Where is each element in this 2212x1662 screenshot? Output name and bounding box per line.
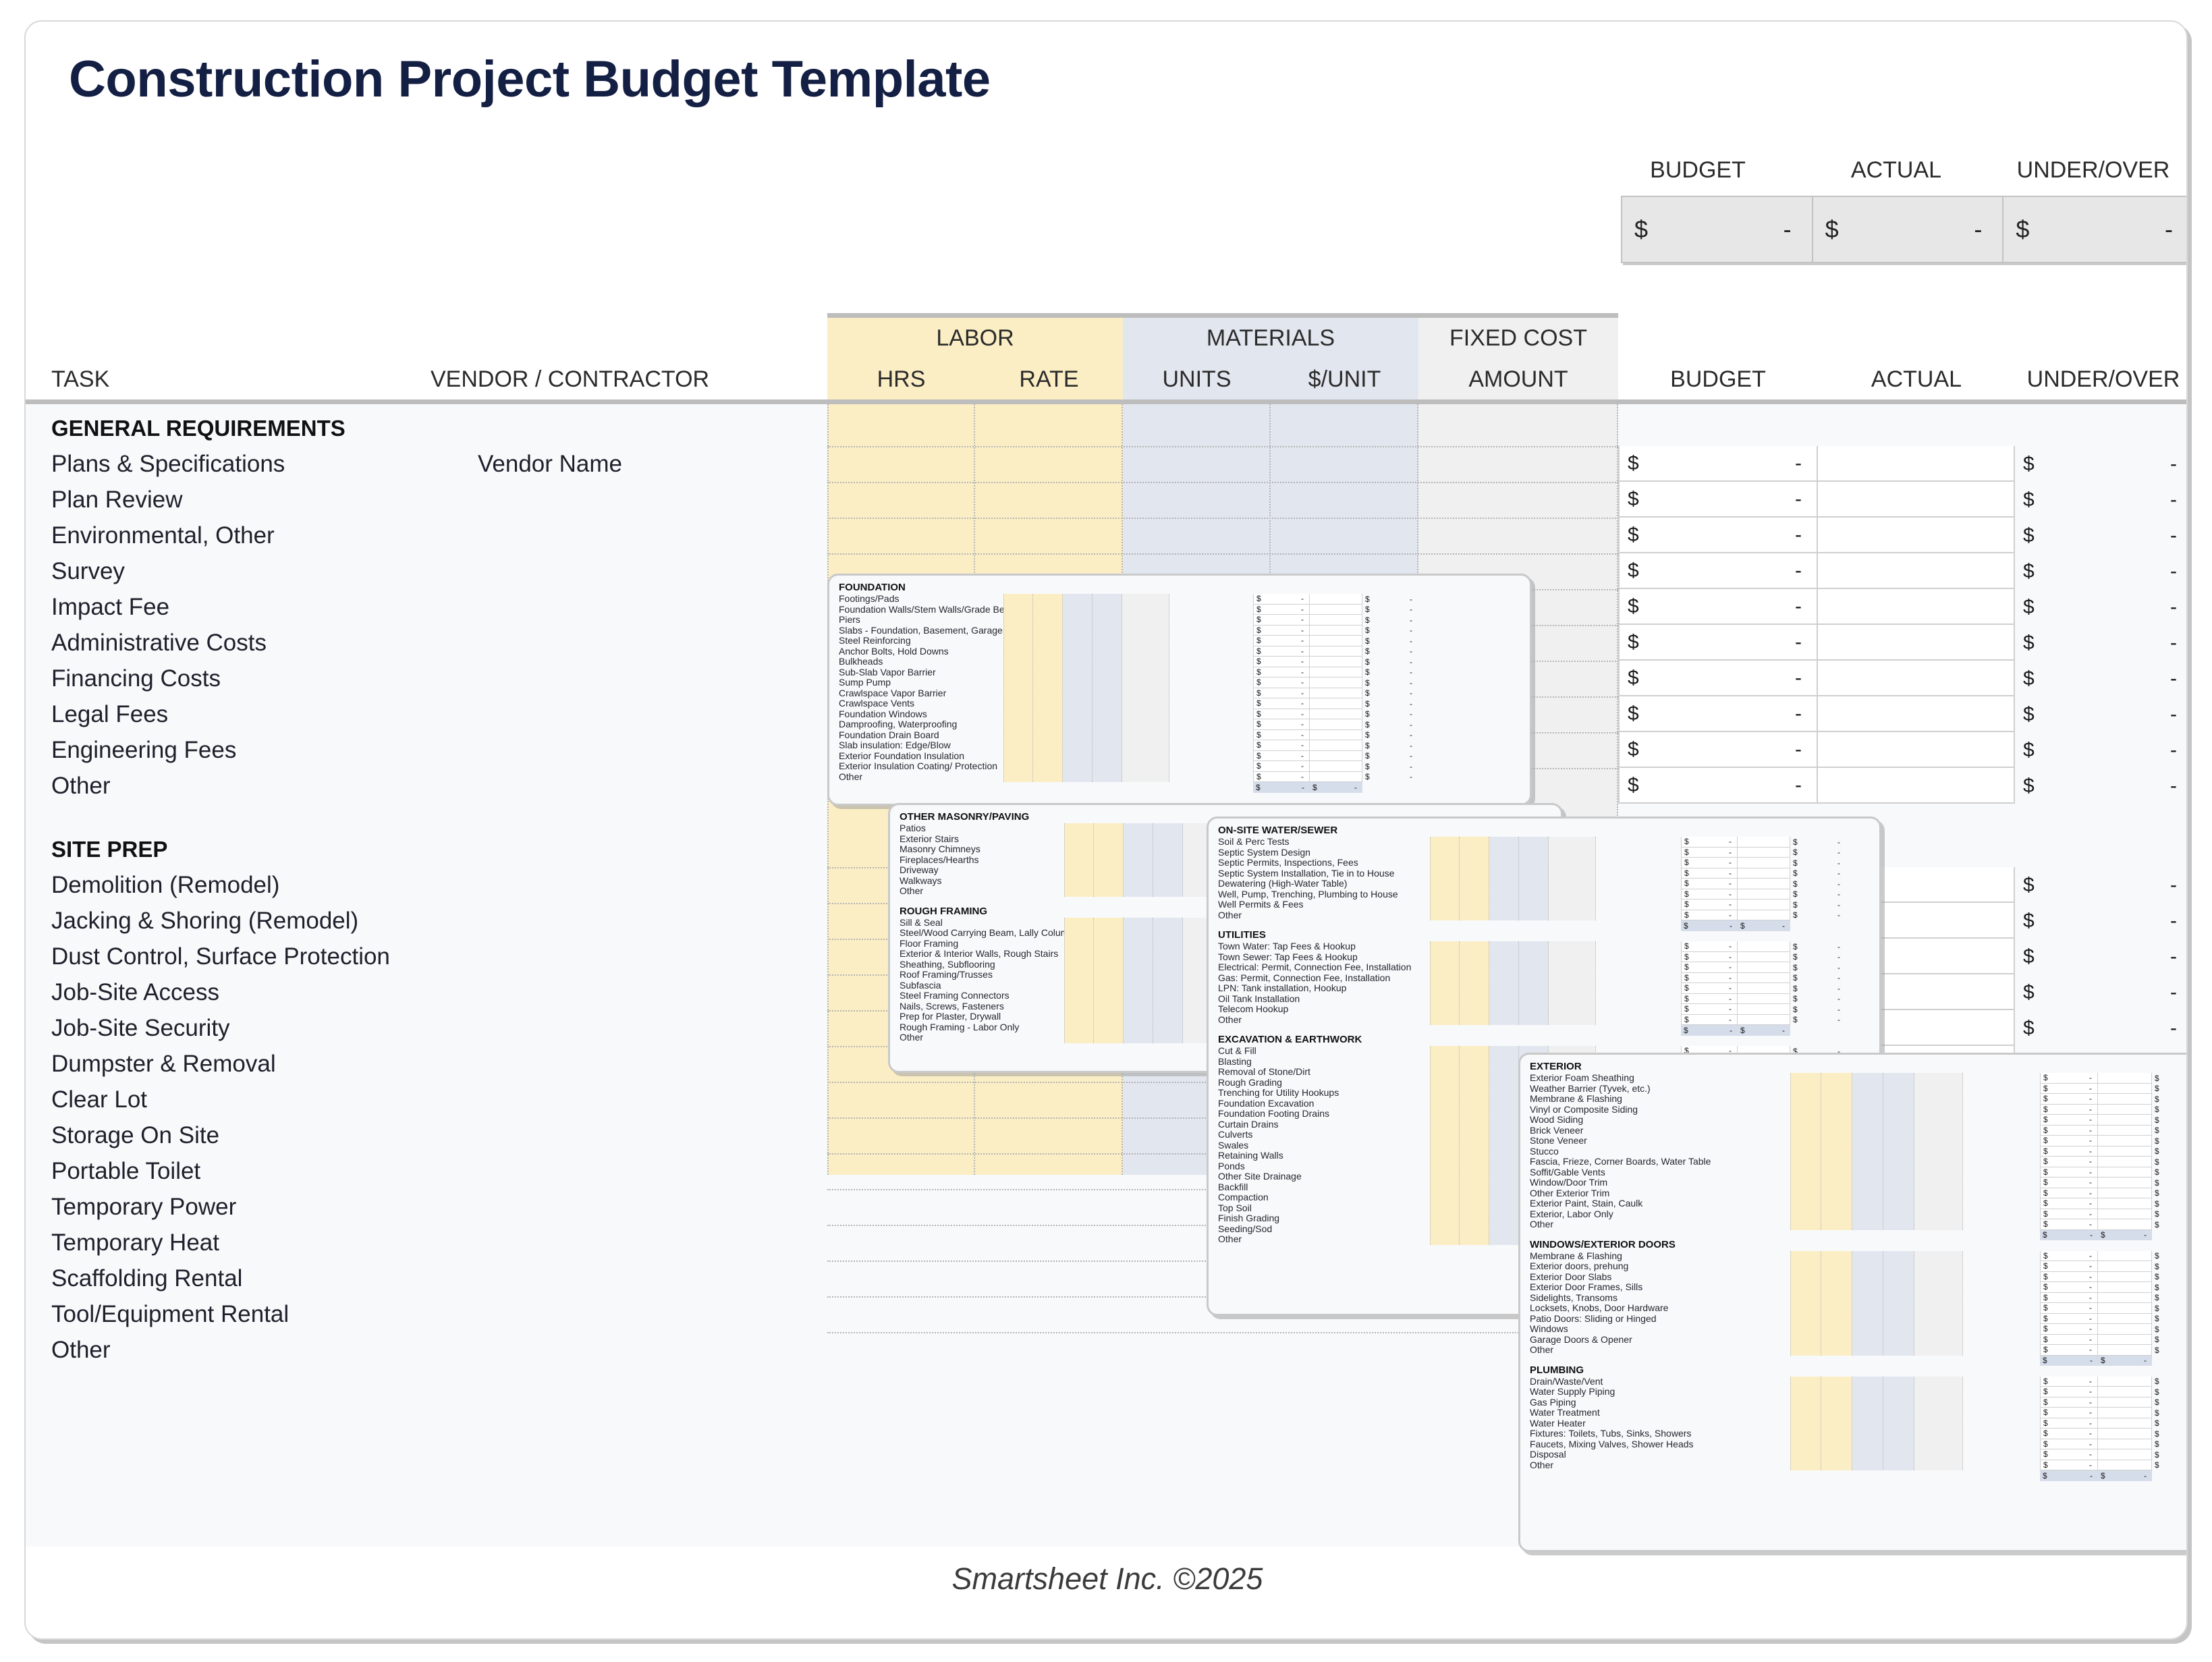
task-row[interactable]: Storage On Site [51, 1117, 807, 1153]
panel-task-label[interactable]: Slabs - Foundation, Basement, Garage [839, 626, 1003, 636]
panel-budget-cell[interactable]: $- [2040, 1198, 2098, 1209]
panel-budget-cell[interactable]: $- [1253, 761, 1310, 772]
panel-budget-cell[interactable]: $- [1681, 962, 1738, 973]
panel-budget-cell[interactable]: $- [1253, 677, 1310, 688]
panel-task-label[interactable]: Steel Reinforcing [839, 636, 911, 646]
panel-task-label[interactable]: Foundation Windows [839, 709, 927, 720]
panel-labor-hrs-column[interactable] [1064, 823, 1094, 897]
panel-task-label[interactable]: Exterior Foam Sheathing [1530, 1073, 1634, 1084]
panel-task-label[interactable]: Water Treatment [1530, 1408, 1600, 1418]
panel-task-label[interactable]: Subfascia [900, 980, 941, 991]
panel-actual-cell[interactable] [1310, 719, 1362, 730]
panel-fixed-amount-column[interactable] [1914, 1251, 1963, 1356]
panel-task-label[interactable]: Soil & Perc Tests [1218, 837, 1290, 848]
summary-budget-cell[interactable]: $ - [1622, 197, 1813, 262]
panel-task-label[interactable]: Piers [839, 615, 860, 626]
panel-task-label[interactable]: Fixtures: Toilets, Tubs, Sinks, Showers [1530, 1429, 1691, 1439]
panel-budget-cell[interactable]: $- [2040, 1429, 2098, 1439]
panel-fixed-amount-column[interactable] [1122, 594, 1169, 782]
panel-task-label[interactable]: Blasting [1218, 1057, 1252, 1068]
panel-task-label[interactable]: Dewatering (High-Water Table) [1218, 879, 1347, 889]
panel-task-label[interactable]: Fireplaces/Hearths [900, 855, 979, 866]
panel-budget-cell[interactable]: $- [2040, 1324, 2098, 1335]
panel-actual-cell[interactable] [2098, 1345, 2152, 1356]
panel-task-label[interactable]: Soffit/Gable Vents [1530, 1167, 1605, 1178]
panel-actual-cell[interactable] [1310, 688, 1362, 699]
panel-materials-units-column[interactable] [1124, 918, 1153, 1043]
panel-actual-cell[interactable] [2098, 1136, 2152, 1146]
panel-budget-cell[interactable]: $- [2040, 1136, 2098, 1146]
panel-budget-cell[interactable]: $- [2040, 1314, 2098, 1325]
panel-actual-cell[interactable] [2098, 1094, 2152, 1105]
panel-actual-cell[interactable] [2098, 1105, 2152, 1115]
actual-cell[interactable] [1818, 625, 2015, 661]
panel-task-label[interactable]: Wood Siding [1530, 1115, 1583, 1126]
budget-cell[interactable]: $- [1618, 518, 1818, 553]
panel-budget-cell[interactable]: $- [2040, 1146, 2098, 1157]
panel-task-label[interactable]: Other [839, 772, 862, 783]
task-row[interactable]: Tool/Equipment Rental [51, 1296, 807, 1332]
panel-budget-cell[interactable]: $- [1681, 994, 1738, 1005]
panel-actual-cell[interactable] [1310, 667, 1362, 678]
panel-actual-cell[interactable] [2098, 1439, 2152, 1450]
panel-actual-cell[interactable] [1310, 657, 1362, 667]
panel-budget-cell[interactable]: $- [2040, 1126, 2098, 1136]
panel-actual-cell[interactable] [1310, 615, 1362, 626]
panel-budget-cell[interactable]: $- [1253, 772, 1310, 783]
panel-budget-cell[interactable]: $- [2040, 1167, 2098, 1178]
panel-task-label[interactable]: Steel/Wood Carrying Beam, Lally Columns [900, 928, 1078, 939]
panel-budget-cell[interactable]: $- [2040, 1293, 2098, 1304]
panel-fixed-amount-column[interactable] [1914, 1073, 1963, 1230]
panel-task-label[interactable]: Swales [1218, 1140, 1248, 1151]
panel-labor-hrs-column[interactable] [1430, 1046, 1460, 1245]
panel-budget-cell[interactable]: $- [2040, 1282, 2098, 1293]
panel-budget-cell[interactable]: $- [1681, 868, 1738, 879]
panel-task-label[interactable]: Patios [900, 823, 926, 834]
panel-materials-units-column[interactable] [1852, 1377, 1883, 1471]
panel-actual-cell[interactable] [1310, 751, 1362, 762]
task-row[interactable]: Clear Lot [51, 1082, 807, 1117]
panel-budget-cell[interactable]: $- [1681, 1015, 1738, 1026]
panel-actual-cell[interactable] [2098, 1293, 2152, 1304]
panel-labor-hrs-column[interactable] [1003, 594, 1033, 782]
panel-actual-cell[interactable] [2098, 1314, 2152, 1325]
task-row[interactable]: Job-Site Access [51, 974, 807, 1010]
task-row[interactable]: Temporary Power [51, 1189, 807, 1225]
panel-actual-cell[interactable] [2098, 1324, 2152, 1335]
panel-budget-cell[interactable]: $- [2040, 1084, 2098, 1095]
panel-budget-cell[interactable]: $- [2040, 1439, 2098, 1450]
budget-cell[interactable]: $- [1618, 482, 1818, 518]
panel-materials-units-column[interactable] [1852, 1251, 1883, 1356]
panel-task-label[interactable]: Other [1218, 910, 1242, 921]
panel-labor-rate-column[interactable] [1094, 823, 1124, 897]
panel-task-label[interactable]: Footings/Pads [839, 594, 900, 605]
panel-budget-cell[interactable]: $- [1681, 889, 1738, 900]
panel-task-label[interactable]: Foundation Drain Board [839, 730, 939, 741]
panel-materials-perunit-column[interactable] [1153, 918, 1183, 1043]
panel-labor-hrs-column[interactable] [1790, 1377, 1821, 1471]
panel-task-label[interactable]: Trenching for Utility Hookups [1218, 1088, 1339, 1099]
task-row[interactable]: Environmental, Other [51, 518, 807, 553]
panel-budget-cell[interactable]: $- [2040, 1251, 2098, 1262]
budget-cell[interactable]: $- [1618, 661, 1818, 696]
panel-task-label[interactable]: Bulkheads [839, 657, 883, 667]
task-row[interactable]: Engineering Fees [51, 732, 807, 768]
panel-materials-units-column[interactable] [1489, 837, 1519, 920]
panel-budget-cell[interactable]: $- [2040, 1418, 2098, 1429]
panel-task-label[interactable]: Crawlspace Vents [839, 698, 914, 709]
panel-budget-cell[interactable]: $- [2040, 1209, 2098, 1220]
panel-task-label[interactable]: Stucco [1530, 1146, 1559, 1157]
panel-task-label[interactable]: Floor Framing [900, 939, 958, 949]
panel-actual-cell[interactable] [2098, 1261, 2152, 1272]
panel-budget-cell[interactable]: $- [1253, 667, 1310, 678]
panel-task-label[interactable]: Garage Doors & Opener [1530, 1335, 1632, 1346]
panel-task-label[interactable]: Locksets, Knobs, Door Hardware [1530, 1303, 1668, 1314]
panel-actual-cell[interactable] [1738, 1004, 1790, 1015]
panel-materials-perunit-column[interactable] [1883, 1251, 1914, 1356]
panel-budget-cell[interactable]: $- [2040, 1397, 2098, 1408]
panel-task-label[interactable]: Exterior Paint, Stain, Caulk [1530, 1198, 1642, 1209]
panel-budget-cell[interactable]: $- [1681, 899, 1738, 910]
panel-actual-cell[interactable] [2098, 1219, 2152, 1230]
panel-budget-cell[interactable]: $- [1253, 657, 1310, 667]
panel-actual-cell[interactable] [2098, 1335, 2152, 1346]
budget-cell[interactable]: $- [1618, 589, 1818, 625]
panel-task-label[interactable]: Drain/Waste/Vent [1530, 1377, 1603, 1387]
task-row[interactable]: Dumpster & Removal [51, 1046, 807, 1082]
panel-task-label[interactable]: Gas Piping [1530, 1397, 1576, 1408]
panel-task-label[interactable]: Retaining Walls [1218, 1151, 1283, 1161]
panel-budget-cell[interactable]: $- [2040, 1073, 2098, 1084]
task-row[interactable]: Temporary Heat [51, 1225, 807, 1261]
panel-actual-cell[interactable] [2098, 1188, 2152, 1199]
panel-budget-cell[interactable]: $- [2040, 1157, 2098, 1167]
panel-labor-hrs-column[interactable] [1430, 837, 1460, 920]
panel-budget-cell[interactable]: $- [2040, 1105, 2098, 1115]
panel-task-label[interactable]: Slab insulation: Edge/Blow [839, 740, 951, 751]
panel-task-label[interactable]: Septic Permits, Inspections, Fees [1218, 858, 1358, 868]
panel-task-label[interactable]: Masonry Chimneys [900, 844, 980, 855]
panel-budget-cell[interactable]: $- [1681, 837, 1738, 848]
panel-task-label[interactable]: Prep for Plaster, Drywall [900, 1012, 1001, 1022]
panel-task-label[interactable]: Other [1218, 1015, 1242, 1026]
panel-task-label[interactable]: Oil Tank Installation [1218, 994, 1300, 1005]
panel-task-label[interactable]: Other [1530, 1345, 1553, 1356]
panel-actual-cell[interactable] [2098, 1178, 2152, 1188]
task-row[interactable]: Legal Fees [51, 696, 807, 732]
panel-budget-cell[interactable]: $- [2040, 1335, 2098, 1346]
panel-task-label[interactable]: Other Exterior Trim [1530, 1188, 1609, 1199]
panel-actual-cell[interactable] [1738, 1015, 1790, 1026]
panel-budget-cell[interactable]: $- [2040, 1303, 2098, 1314]
panel-task-label[interactable]: Driveway [900, 865, 939, 876]
panel-actual-cell[interactable] [1310, 772, 1362, 783]
panel-actual-cell[interactable] [1310, 761, 1362, 772]
panel-labor-rate-column[interactable] [1460, 837, 1489, 920]
panel-task-label[interactable]: Sidelights, Transoms [1530, 1293, 1617, 1304]
panel-budget-cell[interactable]: $- [1253, 751, 1310, 762]
panel-task-label[interactable]: Ponds [1218, 1161, 1245, 1172]
panel-actual-cell[interactable] [2098, 1377, 2152, 1387]
panel-actual-cell[interactable] [1738, 973, 1790, 984]
panel-task-label[interactable]: Well, Pump, Trenching, Plumbing to House [1218, 889, 1398, 900]
panel-budget-cell[interactable]: $- [1681, 848, 1738, 858]
panel-actual-cell[interactable] [2098, 1387, 2152, 1397]
panel-actual-cell[interactable] [2098, 1251, 2152, 1262]
panel-task-label[interactable]: Membrane & Flashing [1530, 1251, 1622, 1262]
panel-task-label[interactable]: Nails, Screws, Fasteners [900, 1001, 1004, 1012]
panel-actual-cell[interactable] [2098, 1084, 2152, 1095]
panel-labor-rate-column[interactable] [1460, 941, 1489, 1025]
panel-actual-cell[interactable] [2098, 1418, 2152, 1429]
panel-budget-cell[interactable]: $- [1253, 626, 1310, 636]
panel-budget-cell[interactable]: $- [2040, 1261, 2098, 1272]
task-row[interactable]: Other [51, 1332, 807, 1368]
panel-task-label[interactable]: Windows [1530, 1324, 1568, 1335]
panel-budget-cell[interactable]: $- [1253, 740, 1310, 751]
panel-actual-cell[interactable] [1310, 698, 1362, 709]
panel-task-label[interactable]: Rough Framing - Labor Only [900, 1022, 1019, 1033]
panel-actual-cell[interactable] [1310, 646, 1362, 657]
panel-task-label[interactable]: Septic System Installation, Tie in to Ho… [1218, 868, 1394, 879]
panel-task-label[interactable]: Crawlspace Vapor Barrier [839, 688, 946, 699]
panel-task-label[interactable]: Brick Veneer [1530, 1126, 1583, 1136]
panel-budget-cell[interactable]: $- [1253, 719, 1310, 730]
panel-task-label[interactable]: Exterior Stairs [900, 834, 959, 845]
panel-actual-cell[interactable] [1738, 868, 1790, 879]
actual-cell[interactable] [1818, 696, 2015, 732]
panel-budget-cell[interactable]: $- [2040, 1449, 2098, 1460]
panel-task-label[interactable]: Culverts [1218, 1130, 1252, 1140]
panel-actual-cell[interactable] [1310, 636, 1362, 646]
panel-actual-cell[interactable] [1310, 709, 1362, 720]
panel-task-label[interactable]: Vinyl or Composite Siding [1530, 1105, 1638, 1115]
task-row[interactable]: Portable Toilet [51, 1153, 807, 1189]
task-row[interactable]: Other [51, 768, 807, 804]
panel-budget-cell[interactable]: $- [1253, 730, 1310, 741]
panel-task-label[interactable]: Sheathing, Subflooring [900, 960, 995, 970]
panel-actual-cell[interactable] [1738, 848, 1790, 858]
panel-task-label[interactable]: Exterior Door Slabs [1530, 1272, 1611, 1283]
panel-task-label[interactable]: Finish Grading [1218, 1213, 1279, 1224]
panel-budget-cell[interactable]: $- [1253, 615, 1310, 626]
panel-budget-cell[interactable]: $- [2040, 1272, 2098, 1283]
panel-actual-cell[interactable] [1310, 605, 1362, 615]
panel-task-label[interactable]: Rough Grading [1218, 1078, 1282, 1088]
panel-labor-hrs-column[interactable] [1790, 1251, 1821, 1356]
panel-budget-cell[interactable]: $- [2040, 1377, 2098, 1387]
panel-materials-perunit-column[interactable] [1519, 941, 1549, 1025]
panel-budget-cell[interactable]: $- [1253, 605, 1310, 615]
budget-cell[interactable]: $- [1618, 696, 1818, 732]
panel-labor-rate-column[interactable] [1033, 594, 1063, 782]
panel-materials-perunit-column[interactable] [1093, 594, 1122, 782]
panel-task-label[interactable]: Compaction [1218, 1192, 1269, 1203]
panel-budget-cell[interactable]: $- [1681, 858, 1738, 868]
panel-task-label[interactable]: Window/Door Trim [1530, 1178, 1607, 1188]
panel-materials-perunit-column[interactable] [1883, 1073, 1914, 1230]
panel-actual-cell[interactable] [2098, 1397, 2152, 1408]
panel-task-label[interactable]: Other [1530, 1219, 1553, 1230]
budget-cell[interactable]: $- [1618, 768, 1818, 804]
panel-budget-cell[interactable]: $- [2040, 1178, 2098, 1188]
panel-materials-units-column[interactable] [1489, 1046, 1519, 1245]
panel-actual-cell[interactable] [1738, 899, 1790, 910]
panel-task-label[interactable]: Sub-Slab Vapor Barrier [839, 667, 936, 678]
panel-actual-cell[interactable] [2098, 1282, 2152, 1293]
panel-actual-cell[interactable] [2098, 1209, 2152, 1220]
panel-actual-cell[interactable] [1738, 952, 1790, 963]
panel-actual-cell[interactable] [2098, 1115, 2152, 1126]
panel-task-label[interactable]: Top Soil [1218, 1203, 1252, 1214]
panel-actual-cell[interactable] [1310, 677, 1362, 688]
panel-task-label[interactable]: Water Heater [1530, 1418, 1586, 1429]
panel-task-label[interactable]: Town Water: Tap Fees & Hookup [1218, 941, 1356, 952]
overlay-panel-exterior-windows-plumbing[interactable]: EXTERIORExterior Foam SheathingWeather B… [1518, 1053, 2188, 1552]
summary-under-over-cell[interactable]: $ - [2003, 197, 2188, 262]
panel-task-label[interactable]: Backfill [1218, 1182, 1248, 1193]
panel-materials-perunit-column[interactable] [1153, 823, 1183, 897]
panel-task-label[interactable]: Exterior & Interior Walls, Rough Stairs [900, 949, 1058, 960]
panel-actual-cell[interactable] [1310, 594, 1362, 605]
panel-budget-cell[interactable]: $- [1681, 952, 1738, 963]
panel-actual-cell[interactable] [2098, 1167, 2152, 1178]
panel-task-label[interactable]: Exterior, Labor Only [1530, 1209, 1613, 1220]
panel-task-label[interactable]: Stone Veneer [1530, 1136, 1587, 1146]
panel-task-label[interactable]: Exterior Insulation Coating/ Protection [839, 761, 997, 772]
task-row[interactable]: Administrative Costs [51, 625, 807, 661]
panel-task-label[interactable]: Membrane & Flashing [1530, 1094, 1622, 1105]
panel-task-label[interactable]: Other Site Drainage [1218, 1171, 1302, 1182]
panel-budget-cell[interactable]: $- [1681, 879, 1738, 889]
panel-actual-cell[interactable] [1738, 879, 1790, 889]
panel-task-label[interactable]: LPN: Tank installation, Hookup [1218, 983, 1346, 994]
panel-budget-cell[interactable]: $- [1253, 646, 1310, 657]
task-row[interactable]: Plans & SpecificationsVendor Name [51, 446, 807, 482]
panel-fixed-amount-column[interactable] [1549, 941, 1596, 1025]
actual-cell[interactable] [1818, 768, 2015, 804]
panel-task-label[interactable]: Removal of Stone/Dirt [1218, 1067, 1310, 1078]
panel-budget-cell[interactable]: $- [2040, 1387, 2098, 1397]
panel-actual-cell[interactable] [2098, 1157, 2152, 1167]
panel-labor-rate-column[interactable] [1460, 1046, 1489, 1245]
panel-actual-cell[interactable] [2098, 1303, 2152, 1314]
panel-budget-cell[interactable]: $- [2040, 1094, 2098, 1105]
task-row[interactable]: Impact Fee [51, 589, 807, 625]
panel-labor-rate-column[interactable] [1821, 1073, 1852, 1230]
panel-labor-hrs-column[interactable] [1064, 918, 1094, 1043]
task-row[interactable]: Jacking & Shoring (Remodel) [51, 903, 807, 939]
panel-budget-cell[interactable]: $- [2040, 1408, 2098, 1418]
panel-task-label[interactable]: Patio Doors: Sliding or Hinged [1530, 1314, 1657, 1325]
panel-task-label[interactable]: Foundation Excavation [1218, 1099, 1314, 1109]
panel-task-label[interactable]: Anchor Bolts, Hold Downs [839, 646, 949, 657]
actual-cell[interactable] [1818, 661, 2015, 696]
panel-budget-cell[interactable]: $- [1681, 973, 1738, 984]
panel-budget-cell[interactable]: $- [1681, 1004, 1738, 1015]
actual-cell[interactable] [1818, 482, 2015, 518]
panel-task-label[interactable]: Sill & Seal [900, 918, 943, 929]
panel-budget-cell[interactable]: $- [2040, 1219, 2098, 1230]
panel-task-label[interactable]: Septic System Design [1218, 848, 1310, 858]
panel-actual-cell[interactable] [1738, 962, 1790, 973]
panel-task-label[interactable]: Exterior doors, prehung [1530, 1261, 1628, 1272]
panel-labor-rate-column[interactable] [1094, 918, 1124, 1043]
panel-budget-cell[interactable]: $- [1253, 688, 1310, 699]
panel-actual-cell[interactable] [2098, 1272, 2152, 1283]
panel-fixed-amount-column[interactable] [1549, 837, 1596, 920]
panel-materials-units-column[interactable] [1852, 1073, 1883, 1230]
budget-cell[interactable]: $- [1618, 446, 1818, 482]
panel-task-label[interactable]: Steel Framing Connectors [900, 991, 1010, 1001]
panel-budget-cell[interactable]: $- [1253, 709, 1310, 720]
panel-task-label[interactable]: Fascia, Frieze, Corner Boards, Water Tab… [1530, 1157, 1711, 1167]
panel-actual-cell[interactable] [1738, 994, 1790, 1005]
task-row[interactable]: Financing Costs [51, 661, 807, 696]
panel-task-label[interactable]: Roof Framing/Trusses [900, 970, 993, 980]
panel-task-label[interactable]: Other [1530, 1460, 1553, 1471]
panel-actual-cell[interactable] [1738, 941, 1790, 952]
budget-cell[interactable]: $- [1618, 732, 1818, 768]
panel-actual-cell[interactable] [1738, 910, 1790, 921]
panel-task-label[interactable]: Town Sewer: Tap Fees & Hookup [1218, 952, 1358, 963]
panel-budget-cell[interactable]: $- [2040, 1460, 2098, 1471]
panel-materials-units-column[interactable] [1124, 823, 1153, 897]
panel-actual-cell[interactable] [2098, 1126, 2152, 1136]
panel-budget-cell[interactable]: $- [1681, 910, 1738, 921]
panel-budget-cell[interactable]: $- [2040, 1345, 2098, 1356]
actual-cell[interactable] [1818, 518, 2015, 553]
panel-task-label[interactable]: Damproofing, Waterproofing [839, 719, 957, 730]
panel-actual-cell[interactable] [2098, 1449, 2152, 1460]
actual-cell[interactable] [1818, 589, 2015, 625]
summary-actual-cell[interactable]: $ - [1813, 197, 2004, 262]
panel-budget-cell[interactable]: $- [1253, 636, 1310, 646]
panel-task-label[interactable]: Electrical: Permit, Connection Fee, Inst… [1218, 962, 1411, 973]
panel-actual-cell[interactable] [1310, 740, 1362, 751]
panel-task-label[interactable]: Other [900, 1032, 923, 1043]
panel-materials-units-column[interactable] [1489, 941, 1519, 1025]
panel-materials-perunit-column[interactable] [1883, 1377, 1914, 1471]
task-row[interactable]: Dust Control, Surface Protection [51, 939, 807, 974]
panel-task-label[interactable]: Exterior Door Frames, Sills [1530, 1282, 1642, 1293]
panel-task-label[interactable]: Other [900, 886, 923, 897]
panel-task-label[interactable]: Other [1218, 1234, 1242, 1245]
actual-cell[interactable] [1818, 553, 2015, 589]
task-row[interactable]: Plan Review [51, 482, 807, 518]
panel-materials-perunit-column[interactable] [1519, 837, 1549, 920]
overlay-panel-foundation[interactable]: FOUNDATIONFootings/PadsFoundation Walls/… [827, 574, 1532, 806]
task-row[interactable]: Job-Site Security [51, 1010, 807, 1046]
panel-actual-cell[interactable] [1310, 626, 1362, 636]
actual-cell[interactable] [1818, 446, 2015, 482]
panel-actual-cell[interactable] [2098, 1408, 2152, 1418]
panel-actual-cell[interactable] [1310, 730, 1362, 741]
panel-budget-cell[interactable]: $- [1253, 698, 1310, 709]
panel-actual-cell[interactable] [2098, 1198, 2152, 1209]
actual-cell[interactable] [1818, 732, 2015, 768]
panel-task-label[interactable]: Seeding/Sod [1218, 1224, 1272, 1235]
panel-task-label[interactable]: Weather Barrier (Tyvek, etc.) [1530, 1084, 1651, 1095]
panel-task-label[interactable]: Walkways [900, 876, 942, 887]
panel-task-label[interactable]: Telecom Hookup [1218, 1004, 1288, 1015]
panel-task-label[interactable]: Disposal [1530, 1449, 1566, 1460]
panel-task-label[interactable]: Gas: Permit, Connection Fee, Installatio… [1218, 973, 1390, 984]
panel-task-label[interactable]: Foundation Walls/Stem Walls/Grade Beams [839, 605, 1022, 615]
